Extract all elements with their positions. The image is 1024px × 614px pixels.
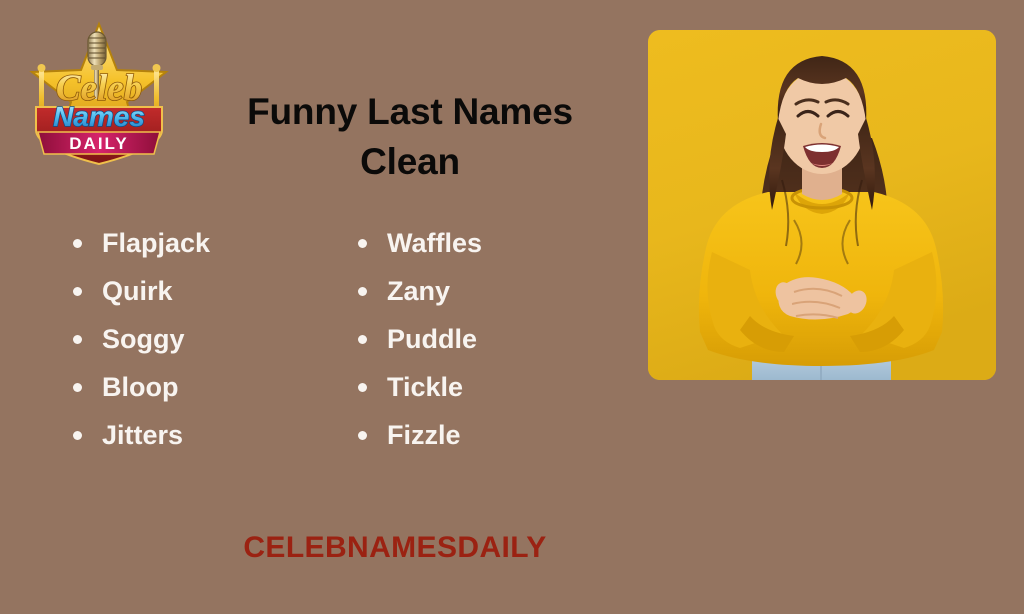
- list-item: Flapjack: [62, 219, 347, 267]
- list-item-label: Quirk: [102, 276, 173, 306]
- poster-canvas: Celeb Names DAILY Funny Last Names Clean…: [0, 0, 1024, 614]
- list-item-label: Zany: [387, 276, 450, 306]
- list-item-label: Waffles: [387, 228, 482, 258]
- bullet-icon: [73, 383, 82, 392]
- page-title: Funny Last Names Clean: [190, 87, 630, 188]
- bullet-icon: [358, 287, 367, 296]
- list-item: Fizzle: [347, 411, 622, 459]
- list-item-label: Puddle: [387, 324, 477, 354]
- list-item-label: Bloop: [102, 372, 178, 402]
- list-item: Zany: [347, 267, 622, 315]
- bullet-icon: [358, 239, 367, 248]
- list-item: Soggy: [62, 315, 347, 363]
- bullet-icon: [73, 431, 82, 440]
- bullet-icon: [358, 431, 367, 440]
- celeb-names-daily-logo[interactable]: Celeb Names DAILY: [14, 12, 184, 172]
- list-item: Bloop: [62, 363, 347, 411]
- page-title-line-1: Funny Last Names: [190, 87, 630, 137]
- bullet-icon: [73, 239, 82, 248]
- list-item-label: Flapjack: [102, 228, 210, 258]
- list-item: Quirk: [62, 267, 347, 315]
- logo-word-daily: DAILY: [69, 134, 128, 153]
- names-lists: Flapjack Quirk Soggy Bloop Jitters: [62, 219, 622, 459]
- list-item: Tickle: [347, 363, 622, 411]
- page-title-line-2: Clean: [190, 137, 630, 187]
- bullet-icon: [358, 335, 367, 344]
- list-item: Puddle: [347, 315, 622, 363]
- footer-brand: CELEBNAMESDAILY: [0, 531, 790, 565]
- logo-banner: DAILY: [38, 132, 160, 154]
- laughing-woman-photo: [648, 30, 996, 380]
- list-item-label: Fizzle: [387, 420, 461, 450]
- list-item: Jitters: [62, 411, 347, 459]
- list-item-label: Soggy: [102, 324, 185, 354]
- bullet-icon: [358, 383, 367, 392]
- names-list-right: Waffles Zany Puddle Tickle Fizzle: [347, 219, 622, 459]
- bullet-icon: [73, 335, 82, 344]
- bullet-icon: [73, 287, 82, 296]
- list-item-label: Tickle: [387, 372, 463, 402]
- names-list-left: Flapjack Quirk Soggy Bloop Jitters: [62, 219, 347, 459]
- logo-word-names: Names: [53, 101, 145, 132]
- list-item: Waffles: [347, 219, 622, 267]
- list-item-label: Jitters: [102, 420, 183, 450]
